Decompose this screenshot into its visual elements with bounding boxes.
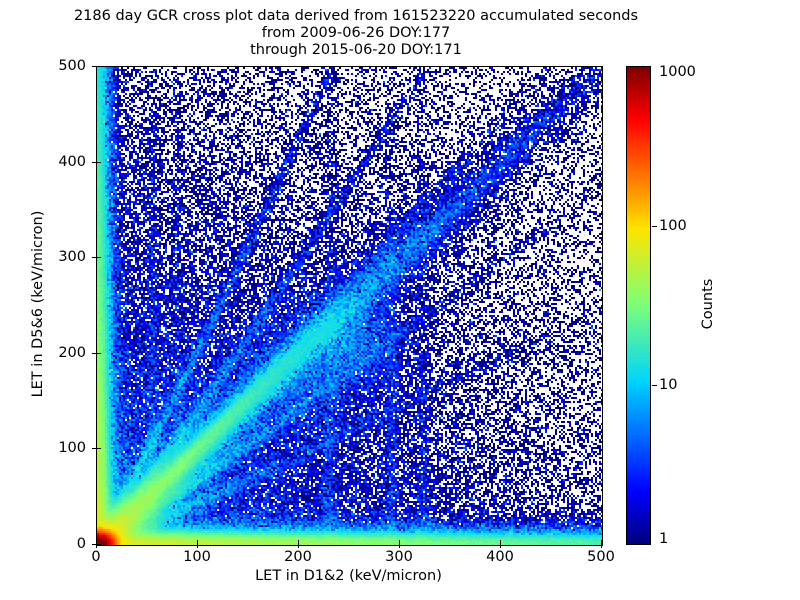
y-tick-mark: [92, 66, 96, 67]
x-tick-label: 500: [571, 549, 631, 565]
figure-root: 2186 day GCR cross plot data derived fro…: [0, 0, 800, 600]
colorbar: [626, 66, 651, 545]
y-tick-mark-inner: [97, 544, 101, 545]
x-tick-mark-inner: [298, 540, 299, 544]
x-tick-mark: [601, 544, 602, 548]
y-tick-mark: [92, 544, 96, 545]
x-tick-mark: [500, 544, 501, 548]
colorbar-tick-mark: [652, 385, 657, 386]
x-tick-label: 100: [167, 549, 227, 565]
y-tick-mark-inner: [97, 66, 101, 67]
x-tick-label: 200: [268, 549, 328, 565]
y-tick-label: 100: [36, 440, 86, 456]
y-axis-title: LET in D5&6 (keV/micron): [30, 204, 46, 404]
plot-title: 2186 day GCR cross plot data derived fro…: [0, 8, 712, 59]
x-tick-label: 400: [470, 549, 530, 565]
heatmap-canvas: [97, 67, 602, 545]
plot-title-line-2: from 2009-06-26 DOY:177: [0, 25, 712, 42]
y-tick-label: 400: [36, 154, 86, 170]
y-tick-label: 500: [36, 58, 86, 74]
y-tick-mark-inner: [97, 162, 101, 163]
x-tick-label: 300: [369, 549, 429, 565]
colorbar-title: Counts: [700, 244, 716, 364]
y-tick-mark: [92, 353, 96, 354]
x-tick-mark-inner: [197, 540, 198, 544]
plot-title-line-3: through 2015-06-20 DOY:171: [0, 42, 712, 59]
y-tick-mark-inner: [97, 448, 101, 449]
y-tick-mark: [92, 448, 96, 449]
x-tick-mark: [197, 544, 198, 548]
colorbar-tick-label: 100: [659, 218, 687, 234]
x-tick-mark-inner: [399, 540, 400, 544]
y-tick-mark-inner: [97, 353, 101, 354]
x-tick-mark: [399, 544, 400, 548]
y-tick-label: 0: [36, 536, 86, 552]
x-tick-mark-inner: [500, 540, 501, 544]
colorbar-tick-mark: [652, 226, 657, 227]
colorbar-tick-label: 1: [659, 531, 668, 547]
x-tick-mark-inner: [601, 540, 602, 544]
colorbar-tick-label: 10: [659, 377, 677, 393]
x-tick-mark: [298, 544, 299, 548]
y-tick-mark: [92, 257, 96, 258]
y-tick-mark-inner: [97, 257, 101, 258]
x-axis-title: LET in D1&2 (keV/micron): [96, 568, 601, 584]
y-tick-mark: [92, 162, 96, 163]
plot-title-line-1: 2186 day GCR cross plot data derived fro…: [0, 8, 712, 25]
heatmap-layer: [97, 67, 602, 545]
colorbar-gradient: [626, 66, 651, 545]
plot-axes: [96, 66, 603, 546]
colorbar-tick-label: 1000: [659, 64, 696, 80]
